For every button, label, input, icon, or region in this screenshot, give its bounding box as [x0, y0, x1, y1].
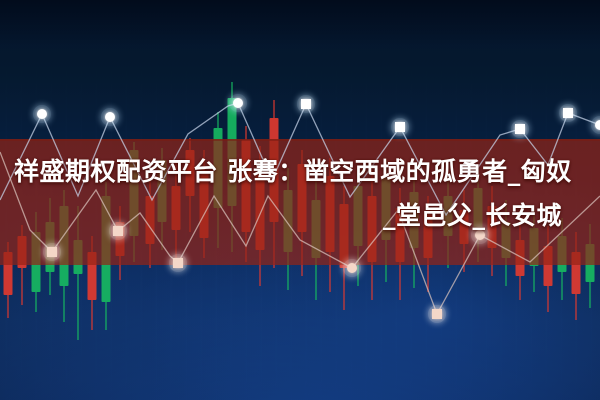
marker-circle: [37, 109, 47, 119]
title-line-1: 祥盛期权配资平台 张骞：凿空西域的孤勇者_匈奴: [14, 150, 586, 194]
marker-circle: [233, 98, 243, 108]
marker-circle: [105, 112, 115, 122]
marker-square: [301, 99, 311, 109]
marker-square: [173, 258, 183, 268]
banner-image: 祥盛期权配资平台 张骞：凿空西域的孤勇者_匈奴 _堂邑父_长安城: [0, 0, 600, 400]
marker-square: [563, 108, 573, 118]
marker-square: [395, 122, 405, 132]
marker-circle: [347, 263, 357, 273]
marker-square: [515, 124, 525, 134]
title-line-2: _堂邑父_长安城: [14, 194, 586, 238]
marker-square: [47, 247, 57, 257]
marker-square: [432, 309, 442, 319]
banner-title: 祥盛期权配资平台 张骞：凿空西域的孤勇者_匈奴 _堂邑父_长安城: [0, 150, 600, 238]
